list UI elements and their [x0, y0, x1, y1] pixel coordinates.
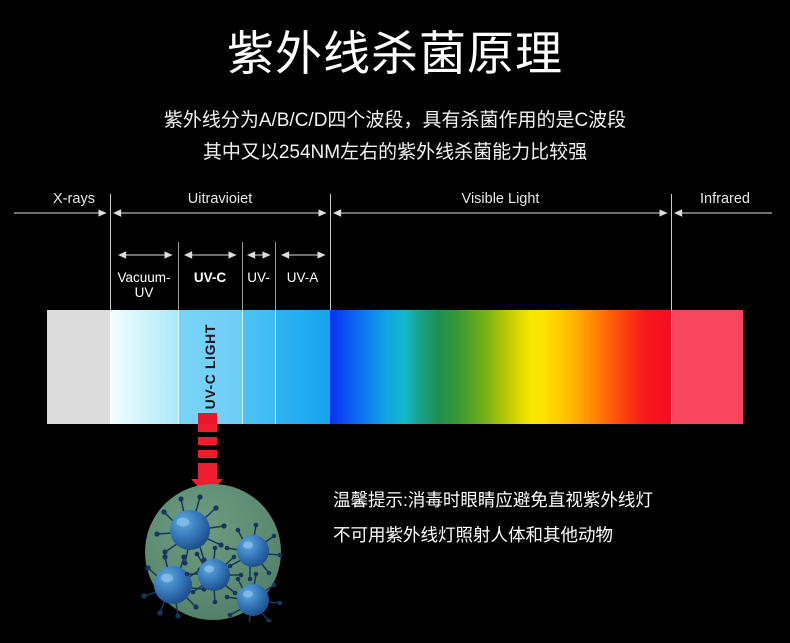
uv-c-light-caption-text: UV-C LIGHT [202, 324, 218, 409]
page-title: 紫外线杀菌原理 [0, 26, 790, 82]
subband-label-uv-a-line1: UV-A [275, 270, 330, 285]
poster-root: 紫外线杀菌原理 紫外线分为A/B/C/D四个波段，具有杀菌作用的是C波段 其中又… [0, 0, 790, 643]
region-label-x-rays: X-rays [38, 190, 110, 208]
region-label-infrared: Infrared [671, 190, 779, 208]
bar-segment-infrared [671, 310, 743, 424]
bar-segment-vacuum-uv [110, 310, 178, 424]
subband-label-uv-c-line1: UV-C [178, 270, 242, 285]
spectrum-bar: UV-C LIGHT [47, 310, 743, 424]
subband-label-uv-b-line1: UV- [242, 270, 275, 285]
subband-label-uv-c: UV-C [178, 270, 242, 285]
arrow-dash-2 [198, 437, 217, 445]
region-label-ultraviolet: Uitravioiet [110, 190, 330, 208]
divider-visible-start [330, 194, 331, 310]
subband-label-vacuum-uv-line1: Vacuum- [110, 270, 178, 285]
bar-segment-uv-b [242, 310, 275, 424]
subtitle-line-1: 紫外线分为A/B/C/D四个波段，具有杀菌作用的是C波段 [0, 108, 790, 134]
bar-segment-x-rays [47, 310, 110, 424]
bar-separator-uva [275, 310, 276, 424]
subband-label-uv-a: UV-A [275, 270, 330, 285]
subband-label-uv-b: UV- [242, 270, 275, 285]
bar-separator-infrared [671, 310, 672, 424]
arrow-dash-3 [198, 450, 217, 458]
germ-illustration [140, 482, 286, 622]
warning-line-2: 不可用紫外线灯照射人体和其他动物 [333, 523, 613, 547]
warning-line-1: 温馨提示:消毒时眼睛应避免直视紫外线灯 [333, 488, 653, 512]
bar-segment-uv-a [275, 310, 330, 424]
subtitle-line-2: 其中又以254NM左右的紫外线杀菌能力比较强 [0, 140, 790, 166]
arrow-stem [198, 463, 217, 480]
divider-infrared-start [671, 194, 672, 310]
region-label-visible: Visible Light [330, 190, 671, 208]
uv-c-marker [198, 413, 217, 424]
bar-separator-uvb [242, 310, 243, 424]
uv-c-light-caption: UV-C LIGHT [178, 310, 242, 424]
bar-segment-visible [330, 310, 671, 424]
subband-label-vacuum-uv: Vacuum- UV [110, 270, 178, 300]
subband-label-vacuum-uv-line2: UV [110, 285, 178, 300]
bar-separator-vacuum [110, 310, 111, 424]
arrow-dash-1 [198, 424, 217, 432]
